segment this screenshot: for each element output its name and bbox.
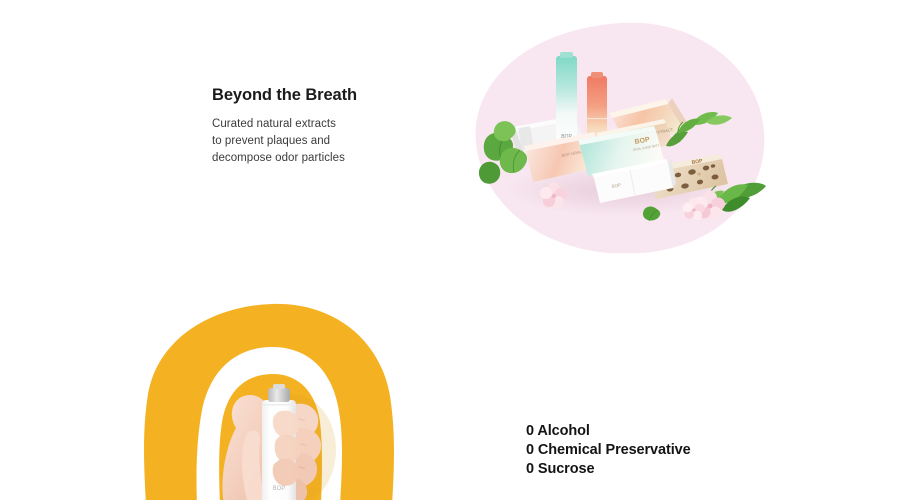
- page-subcopy: Curated natural extracts to prevent plaq…: [212, 116, 472, 167]
- page-title: Beyond the Breath: [212, 86, 472, 104]
- claim-alcohol: 0 Alcohol: [526, 422, 866, 441]
- hero-pink-product-image: BOP BOP NATURAL EXTRACT: [470, 18, 770, 253]
- svg-text:BOP: BOP: [273, 486, 286, 492]
- copy-block: Beyond the Breath Curated natural extrac…: [212, 86, 472, 167]
- mint-gradient-spray-bottle: BOP: [556, 52, 577, 148]
- subcopy-line-2: to prevent plaques and: [212, 133, 472, 150]
- claim-sucrose: 0 Sucrose: [526, 460, 866, 479]
- subcopy-line-1: Curated natural extracts: [212, 116, 472, 133]
- claims-block: 0 Alcohol 0 Chemical Preservative 0 Sucr…: [526, 422, 866, 479]
- fingertips-front: [273, 411, 301, 486]
- hero-orange-hand-image: BOP: [140, 300, 410, 500]
- subcopy-line-3: decompose odor particles: [212, 150, 472, 167]
- claim-chemical-preservative: 0 Chemical Preservative: [526, 441, 866, 460]
- page-root: BOP BOP NATURAL EXTRACT: [0, 0, 900, 500]
- silver-cap: [268, 388, 290, 402]
